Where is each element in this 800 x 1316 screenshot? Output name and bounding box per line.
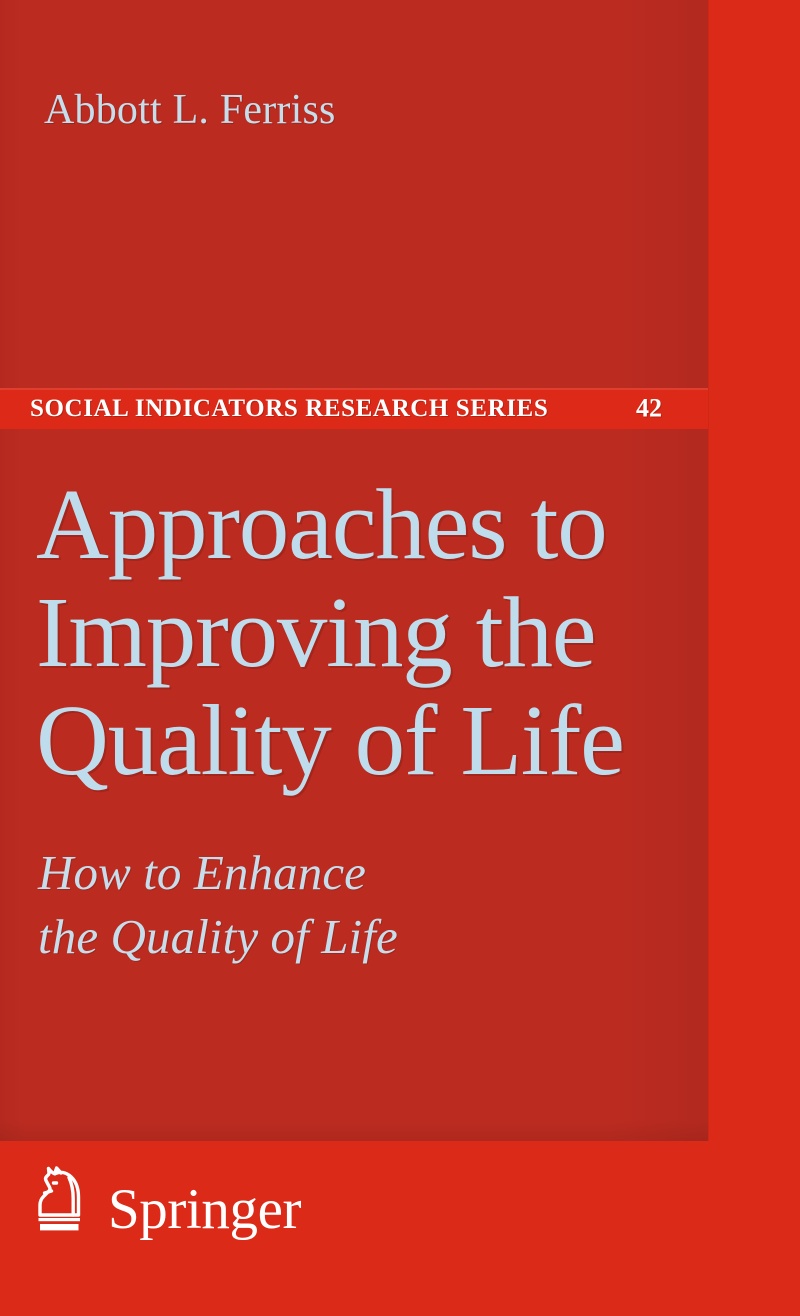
series-name: SOCIAL INDICATORS RESEARCH SERIES <box>30 396 548 421</box>
springer-knight-icon <box>28 1160 90 1238</box>
title-line-2: Improving the <box>36 578 696 686</box>
subtitle-line-2: the Quality of Life <box>38 905 678 969</box>
title-line-1: Approaches to <box>36 470 696 578</box>
title-line-3: Quality of Life <box>36 686 696 794</box>
series-volume-number: 42 <box>636 395 662 421</box>
author-name: Abbott L. Ferriss <box>44 88 336 132</box>
publisher-logo: Springer <box>28 1160 301 1238</box>
subtitle-line-1: How to Enhance <box>38 841 678 905</box>
book-title: Approaches to Improving the Quality of L… <box>36 470 696 794</box>
book-cover: Abbott L. Ferriss SOCIAL INDICATORS RESE… <box>0 0 800 1316</box>
publisher-name: Springer <box>108 1179 301 1241</box>
series-band: SOCIAL INDICATORS RESEARCH SERIES 42 <box>0 388 708 429</box>
book-subtitle: How to Enhance the Quality of Life <box>38 841 678 969</box>
